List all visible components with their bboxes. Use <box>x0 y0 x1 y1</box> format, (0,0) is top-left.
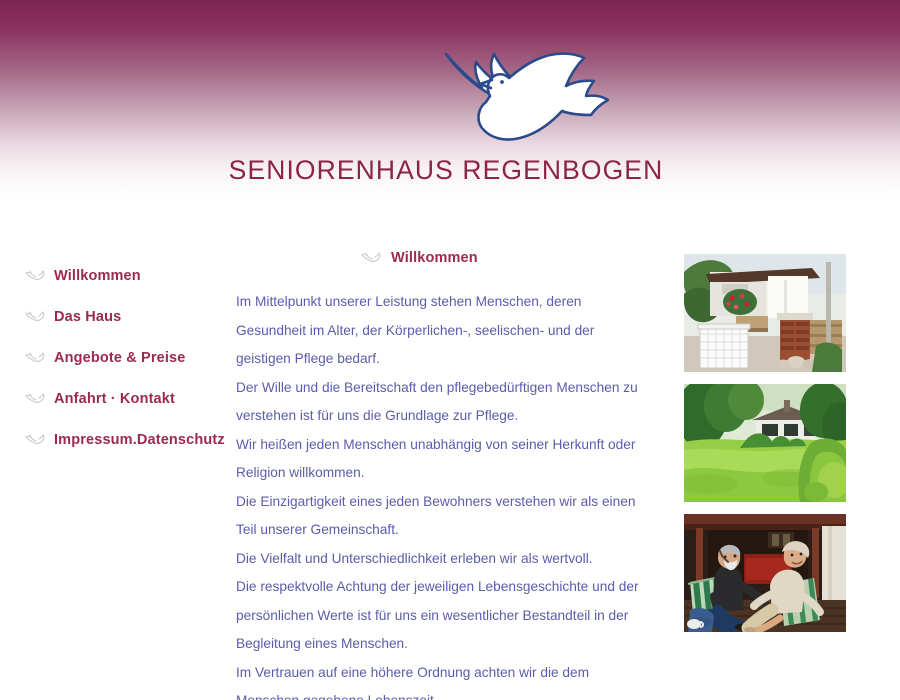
photo-residents-terrace <box>684 514 846 632</box>
photo-house-entrance <box>684 254 846 372</box>
text-line: persönlichen Werte ist für uns ein wesen… <box>236 602 660 631</box>
text-line: Wir heißen jeden Menschen unabhängig von… <box>236 431 660 460</box>
text-line: verstehen ist für uns die Grundlage zur … <box>236 402 660 431</box>
text-line: Gesundheit im Alter, der Körperlichen-, … <box>236 317 660 346</box>
text-line: Die respektvolle Achtung der jeweiligen … <box>236 573 660 602</box>
text-line: Im Mittelpunkt unserer Leistung stehen M… <box>236 288 660 317</box>
sidebar-item-label: Angebote & Preise <box>54 350 185 366</box>
dove-bullet-icon <box>24 310 46 324</box>
page-root: SENIORENHAUS REGENBOGEN Willkommen <box>0 0 900 700</box>
text-line: Die Vielfalt und Unterschiedlichkeit erl… <box>236 545 660 574</box>
sidebar-nav: Willkommen Das Haus <box>24 255 234 460</box>
text-line: Teil unserer Gemeinschaft. <box>236 516 660 545</box>
sidebar-item-label: Das Haus <box>54 309 121 325</box>
sidebar-item-label: Anfahrt · Kontakt <box>54 391 175 407</box>
text-line: geistigen Pflege bedarf. <box>236 345 660 374</box>
sidebar-item-label: Willkommen <box>54 268 141 284</box>
main-content: Willkommen Im Mittelpunkt unserer Leistu… <box>236 250 660 700</box>
text-line: Religion willkommen. <box>236 459 660 488</box>
main-heading: Willkommen <box>360 250 660 266</box>
photo-garden-lawn <box>684 384 846 502</box>
main-heading-label: Willkommen <box>391 250 478 266</box>
dove-bullet-icon <box>24 269 46 283</box>
sidebar-item-anfahrt-kontakt[interactable]: Anfahrt · Kontakt <box>24 378 234 419</box>
sidebar-item-label: Impressum.Datenschutz <box>54 432 225 448</box>
welcome-text: Im Mittelpunkt unserer Leistung stehen M… <box>236 288 660 700</box>
text-line: Der Wille und die Bereitschaft den pfleg… <box>236 374 660 403</box>
photo-column <box>684 254 846 644</box>
sidebar-item-das-haus[interactable]: Das Haus <box>24 296 234 337</box>
text-line: Menschen gegebene Lebenszeit. <box>236 687 660 700</box>
dove-bullet-icon <box>24 392 46 406</box>
dove-icon <box>424 42 624 154</box>
sidebar-item-willkommen[interactable]: Willkommen <box>24 255 234 296</box>
dove-bullet-icon <box>360 251 382 265</box>
text-line: Begleitung eines Menschen. <box>236 630 660 659</box>
page-title: SENIORENHAUS REGENBOGEN <box>0 155 900 186</box>
text-line: Die Einzigartigkeit eines jeden Bewohner… <box>236 488 660 517</box>
text-line: Im Vertrauen auf eine höhere Ordnung ach… <box>236 659 660 688</box>
sidebar-item-impressum-datenschutz[interactable]: Impressum.Datenschutz <box>24 419 234 460</box>
sidebar-item-angebote-preise[interactable]: Angebote & Preise <box>24 337 234 378</box>
dove-bullet-icon <box>24 433 46 447</box>
dove-bullet-icon <box>24 351 46 365</box>
content-area: Willkommen Das Haus <box>0 200 900 700</box>
header-banner: SENIORENHAUS REGENBOGEN <box>0 0 900 200</box>
